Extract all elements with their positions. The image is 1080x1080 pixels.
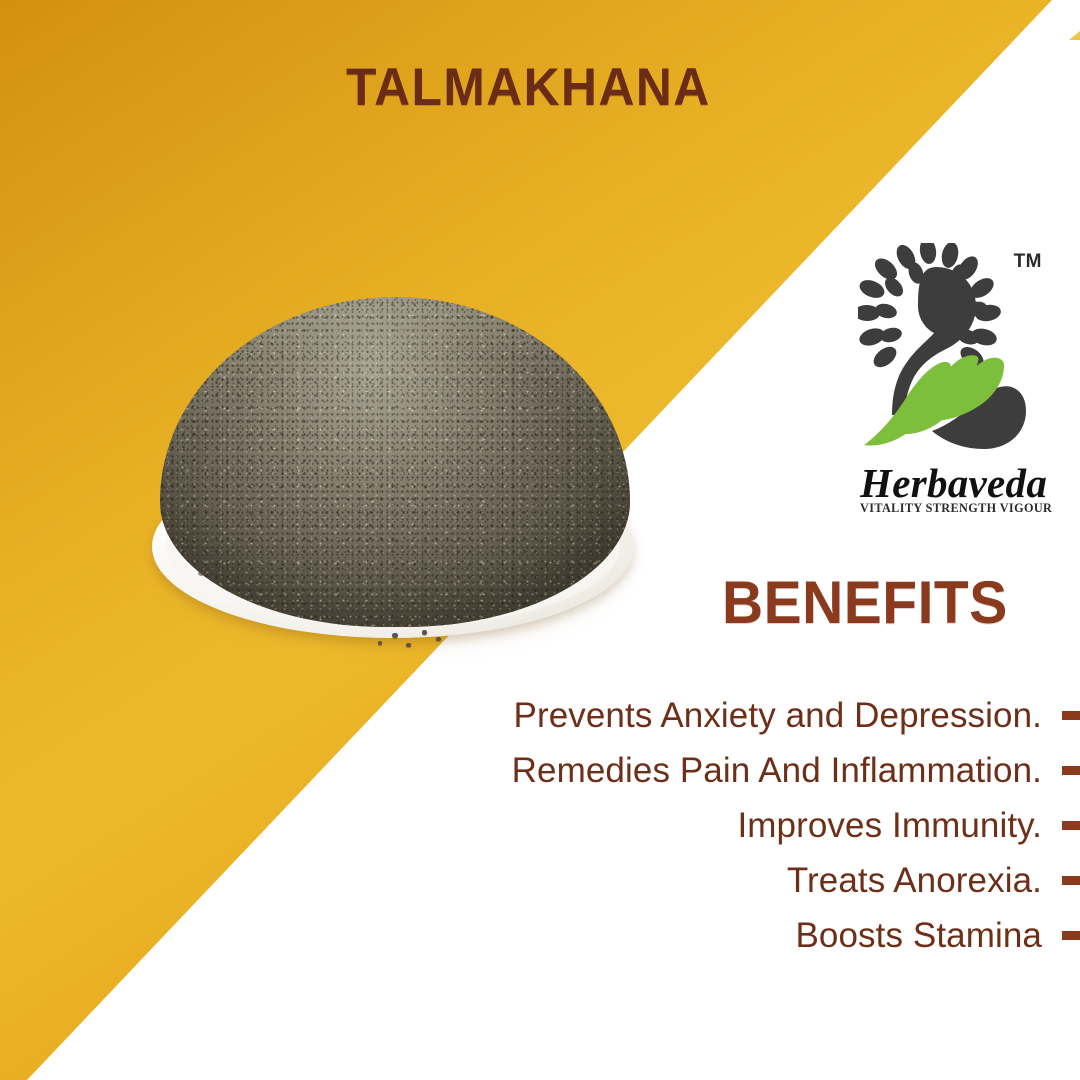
benefit-text: Remedies Pain And Inflammation. <box>512 753 1042 788</box>
stray-seed <box>406 643 411 647</box>
stray-seed <box>378 641 382 645</box>
product-title: TALMAKHANA <box>346 57 711 118</box>
stray-seed <box>436 637 441 641</box>
benefit-dash-icon <box>1062 821 1080 830</box>
stray-seed <box>392 633 398 638</box>
benefit-item: Prevents Anxiety and Depression. <box>330 688 1080 743</box>
benefits-heading: BENEFITS <box>722 568 1008 637</box>
benefit-item: Treats Anorexia. <box>330 853 1080 908</box>
benefit-dash-icon <box>1062 931 1080 940</box>
brand-logo: TM Herbaveda VITALITY STRENGTH VIGOUR <box>858 243 1044 535</box>
product-image <box>130 285 660 685</box>
benefits-list: Prevents Anxiety and Depression. Remedie… <box>330 688 1080 963</box>
seed-mound <box>160 297 630 627</box>
seed-mound-shading <box>160 297 630 627</box>
brand-tagline: VITALITY STRENGTH VIGOUR <box>860 501 1042 516</box>
sunflower-leaf-logo-icon <box>858 243 1030 463</box>
benefit-text: Treats Anorexia. <box>787 863 1042 898</box>
trademark-symbol: TM <box>1014 251 1042 273</box>
benefit-item: Remedies Pain And Inflammation. <box>330 743 1080 798</box>
infographic-canvas: TALMAKHANA <box>0 0 1080 1080</box>
benefit-dash-icon <box>1062 876 1080 885</box>
benefit-text: Prevents Anxiety and Depression. <box>514 698 1043 733</box>
brand-name: Herbaveda <box>860 459 1042 507</box>
benefit-item: Boosts Stamina <box>330 908 1080 963</box>
benefit-dash-icon <box>1062 766 1080 775</box>
benefit-text: Boosts Stamina <box>795 918 1042 953</box>
benefit-dash-icon <box>1062 711 1080 720</box>
stray-seed <box>422 630 427 635</box>
benefit-text: Improves Immunity. <box>737 808 1042 843</box>
benefit-item: Improves Immunity. <box>330 798 1080 853</box>
